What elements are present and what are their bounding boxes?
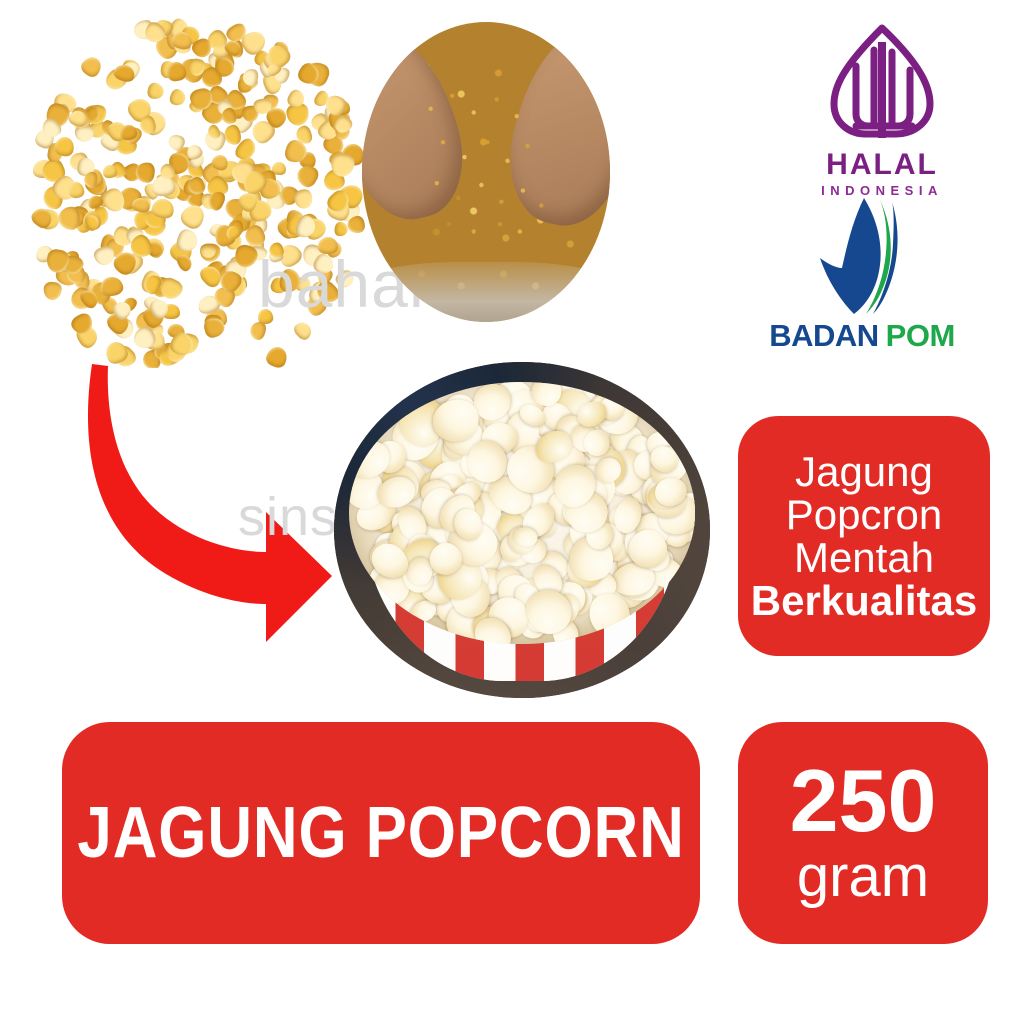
bpom-badan-text: BADAN [769, 318, 878, 353]
description-line-4: Berkualitas [751, 579, 977, 622]
corn-kernel [333, 267, 357, 290]
weight-number: 250 [790, 758, 937, 844]
corn-kernel [98, 275, 124, 298]
sack-edge [362, 262, 610, 322]
corn-kernel [333, 222, 348, 238]
corn-in-hands-texture [412, 68, 566, 254]
corn-kernel [293, 162, 321, 190]
bpom-wordmark: BADANPOM [769, 320, 955, 351]
corn-kernel [78, 53, 105, 80]
product-title-badge: JAGUNG POPCORN [62, 722, 700, 944]
badan-pom-shield-icon [802, 190, 922, 318]
bpom-certification-logo: BADANPOM [762, 190, 962, 370]
corn-kernel [44, 282, 63, 301]
description-line-2: Popcron [786, 493, 942, 536]
product-weight-badge: 250 gram [738, 722, 988, 944]
corn-kernel [291, 319, 314, 342]
photo-popcorn-bowl [334, 362, 710, 698]
page-title: JAGUNG POPCORN [77, 797, 684, 869]
corn-kernel [59, 207, 80, 230]
weight-unit: gram [797, 847, 929, 908]
corn-kernel [146, 81, 165, 100]
photo-hands-holding-corn [362, 22, 610, 322]
bpom-pom-text: POM [886, 318, 955, 353]
popcorn-heap [349, 382, 695, 644]
photo-scattered-kernels [22, 18, 372, 368]
corn-kernel [68, 181, 86, 200]
halal-word: HALAL [826, 150, 938, 180]
corn-kernel [168, 87, 188, 107]
corn-kernel [174, 252, 194, 273]
product-listing-canvas: bahan sinsin [0, 0, 1024, 1024]
curved-arrow-right-icon [70, 352, 360, 652]
halal-certification-logo: HALAL INDONESIA [800, 22, 964, 192]
product-description-badge: Jagung Popcron Mentah Berkualitas [738, 416, 990, 656]
description-line-3: Mentah [794, 536, 934, 579]
description-line-1: Jagung [795, 450, 933, 493]
corn-kernel [318, 237, 338, 254]
halal-indonesia-gunungan-icon [826, 22, 938, 144]
